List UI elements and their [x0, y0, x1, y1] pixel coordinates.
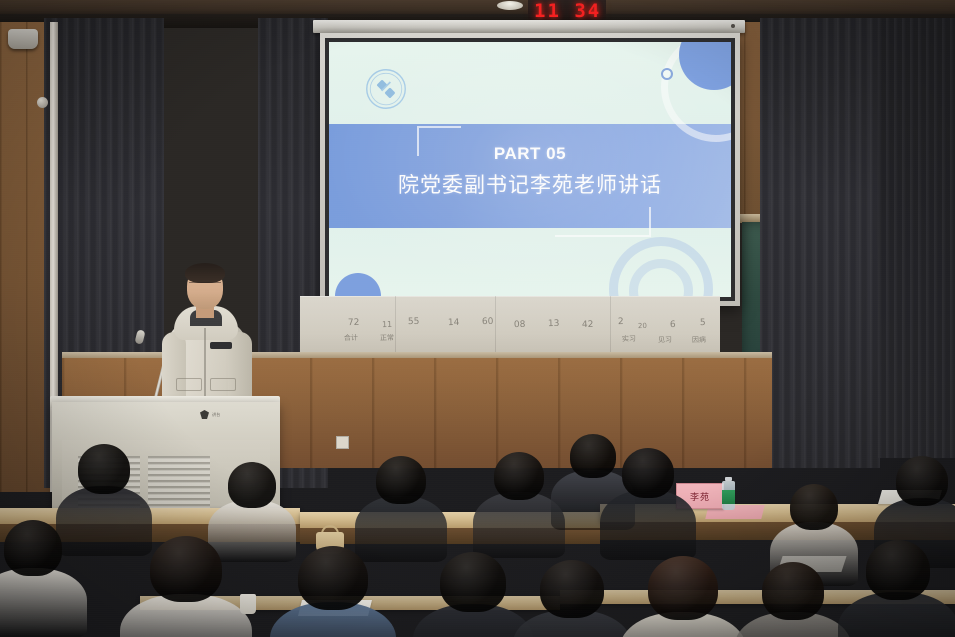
- name-card-text: 李苑: [690, 490, 710, 503]
- audience-member-head: [228, 462, 276, 508]
- audience-member-head: [376, 456, 426, 504]
- audience-member-torso: [355, 496, 447, 562]
- slide-bracket-bottom-right: [555, 207, 651, 237]
- audience-member-torso: [208, 500, 296, 562]
- whiteboard-note: 合计: [344, 333, 358, 343]
- stage-curtain-right: [760, 18, 880, 468]
- audience-member-head: [762, 562, 824, 620]
- audience-member-head: [494, 452, 544, 500]
- whiteboard-note: 55: [408, 317, 420, 327]
- whiteboard-note: 14: [448, 318, 460, 328]
- audience-member-head: [570, 434, 616, 478]
- podium-logo-mark-icon: [200, 410, 209, 419]
- projection-screen-roller[interactable]: [313, 20, 745, 33]
- audience-member-torso: [0, 568, 87, 637]
- podium-logo-text: 讲台: [212, 412, 221, 418]
- audience-member-head: [150, 536, 222, 602]
- presenter-hair: [185, 263, 225, 283]
- whiteboard-note: 60: [482, 317, 494, 327]
- whiteboard-note: 见习: [658, 335, 672, 345]
- audience-member-head: [790, 484, 838, 530]
- presenter-figure: [160, 266, 252, 411]
- wall-speaker-icon: [8, 29, 38, 49]
- podium-vent-right: [148, 456, 210, 508]
- audience-member-torso: [600, 490, 696, 560]
- audience-member-head: [440, 552, 506, 612]
- audience-member-torso: [56, 486, 152, 556]
- projection-screen-frame: PART 05 院党委副书记李苑老师讲话: [320, 33, 740, 306]
- stage-wall-outlet: [336, 436, 349, 449]
- audience-member-head: [866, 540, 930, 600]
- digital-clock-display: 11 34: [534, 0, 601, 22]
- slide-title-block: PART 05 院党委副书记李苑老师讲话: [329, 144, 731, 199]
- audience-member-head: [4, 520, 62, 576]
- whiteboard: 721155146008134222065合计正常实习见习因病: [300, 296, 720, 358]
- presenter-glasses-icon: [189, 282, 221, 289]
- wall-knob-icon: [37, 97, 48, 108]
- audience-member-head: [896, 456, 948, 506]
- whiteboard-note: 08: [514, 320, 526, 330]
- whiteboard-note: 正常: [380, 333, 394, 343]
- whiteboard-note: 72: [348, 318, 360, 328]
- stage-curtain-far-right: [878, 18, 955, 458]
- lecture-hall-scene: 11 34: [0, 0, 955, 637]
- whiteboard-note: 11: [382, 320, 392, 329]
- audience-member-head: [648, 556, 718, 620]
- presenter-pocket-right: [210, 378, 236, 391]
- roller-brand-logo: [731, 24, 737, 28]
- whiteboard-note: 5: [700, 318, 706, 328]
- whiteboard-note: 6: [670, 320, 676, 330]
- slide-heading: 院党委副书记李苑老师讲话: [329, 169, 731, 199]
- presenter-name-badge: [210, 342, 232, 349]
- slide-part-label: PART 05: [329, 144, 731, 164]
- whiteboard-note: 13: [548, 319, 560, 329]
- presentation-slide: PART 05 院党委副书记李苑老师讲话: [329, 42, 731, 297]
- whiteboard-note: 实习: [622, 334, 636, 344]
- whiteboard-note: 20: [638, 322, 647, 330]
- water-bottle-label: [722, 490, 735, 504]
- slide-ring-top-right: [661, 68, 673, 80]
- whiteboard-note: 因病: [692, 335, 706, 345]
- water-bottle: [722, 477, 735, 510]
- audience-member-head: [622, 448, 674, 498]
- whiteboard-note: 42: [582, 320, 594, 330]
- audience-member-head: [298, 546, 368, 610]
- whiteboard-note: 2: [618, 317, 624, 327]
- presenter-pocket-left: [176, 378, 202, 391]
- audience-member-head: [540, 560, 604, 618]
- audience-member-head: [78, 444, 130, 494]
- water-bottle-cap: [725, 477, 732, 481]
- university-emblem-icon: [365, 68, 407, 110]
- projection-screen-surface: PART 05 院党委副书记李苑老师讲话: [325, 38, 735, 301]
- ceiling-light: [497, 1, 523, 10]
- podium-logo: 讲台: [200, 410, 221, 419]
